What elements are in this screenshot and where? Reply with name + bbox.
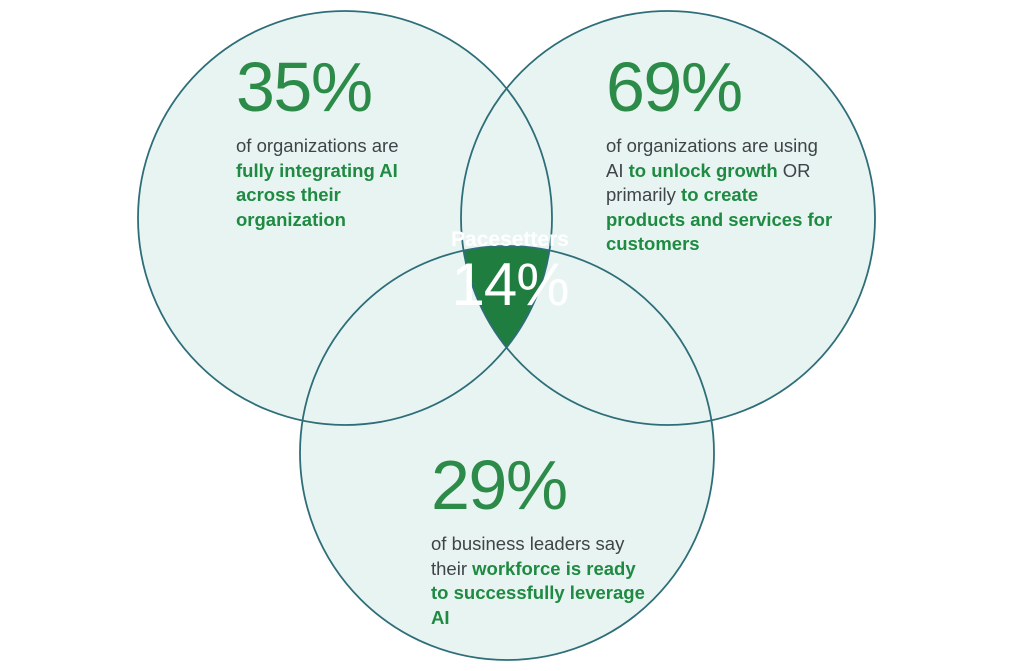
stat-emphasis-right-1: to unlock growth bbox=[629, 160, 778, 181]
stat-description-right: of organizations are using AI to unlock … bbox=[606, 134, 834, 257]
stat-emphasis-left: fully integrating AI across their organi… bbox=[236, 160, 398, 230]
stat-lead-left: of organizations are bbox=[236, 135, 399, 156]
pacesetters-value: 14% bbox=[430, 255, 590, 315]
stat-value-right: 69% bbox=[606, 52, 834, 122]
stat-description-bottom: of business leaders say their workforce … bbox=[431, 532, 646, 630]
stat-block-left: 35% of organizations are fully integrati… bbox=[236, 52, 436, 232]
venn-diagram: 35% of organizations are fully integrati… bbox=[0, 0, 1024, 671]
stat-value-bottom: 29% bbox=[431, 450, 646, 520]
pacesetters-label-group: Pacesetters 14% bbox=[430, 228, 590, 315]
pacesetters-title: Pacesetters bbox=[430, 228, 590, 251]
stat-block-bottom: 29% of business leaders say their workfo… bbox=[431, 450, 646, 630]
stat-block-right: 69% of organizations are using AI to unl… bbox=[606, 52, 834, 257]
stat-value-left: 35% bbox=[236, 52, 436, 122]
stat-description-left: of organizations are fully integrating A… bbox=[236, 134, 436, 232]
